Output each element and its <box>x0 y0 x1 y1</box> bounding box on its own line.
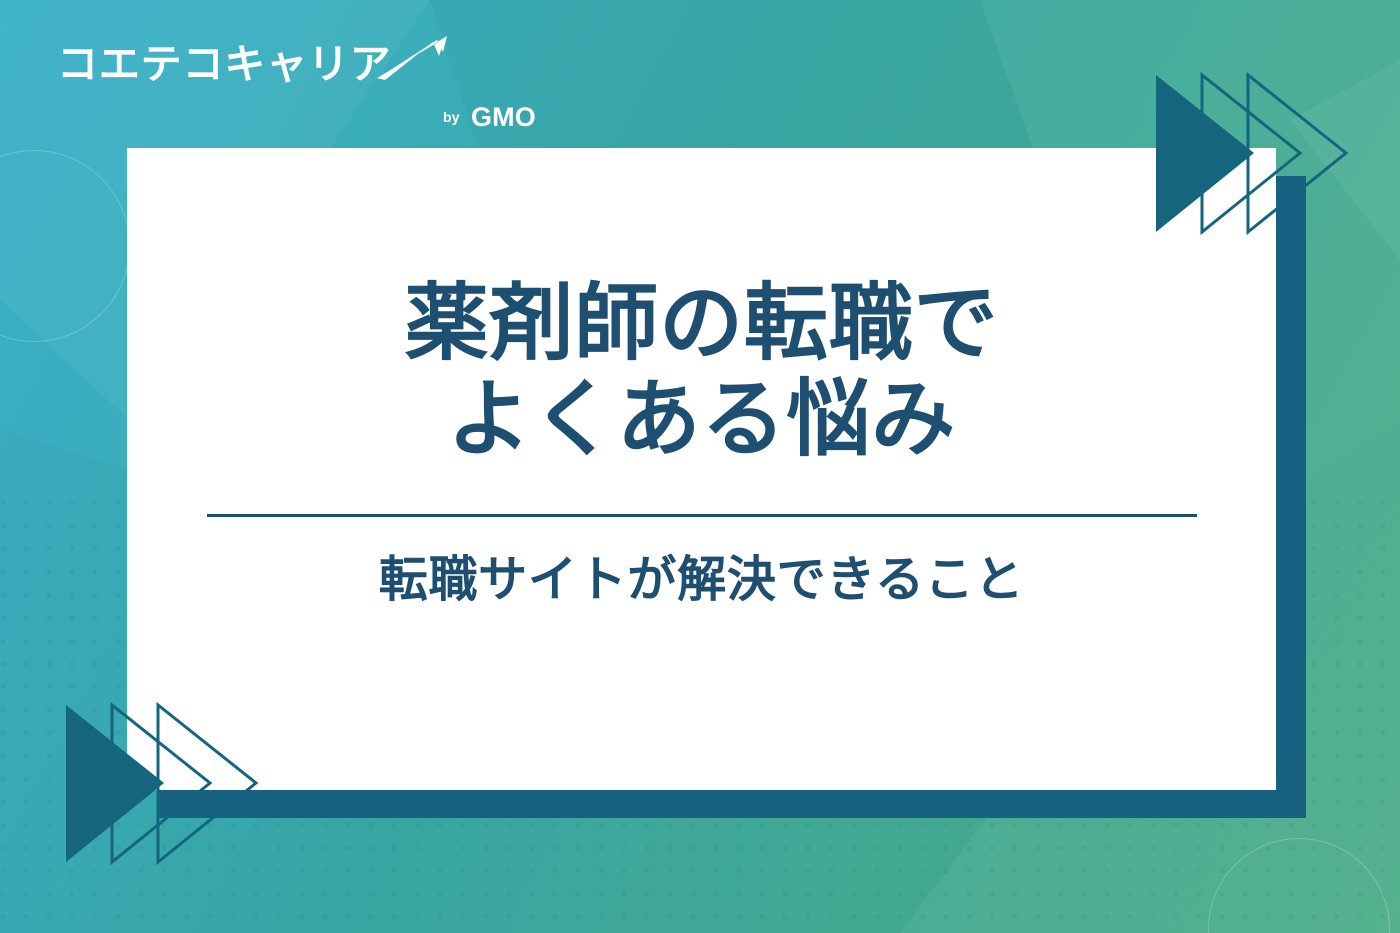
logo-swoosh-arrow-icon <box>373 36 453 82</box>
brand-logo[interactable]: コエテコキャリア by GMO <box>57 44 392 85</box>
page-title: 薬剤師の転職で よくある悩み <box>405 148 999 468</box>
brand-logo-text: コエテコキャリア <box>57 44 392 85</box>
banner-root: 薬剤師の転職で よくある悩み 転職サイトが解決できること コエテコキャリア by… <box>0 0 1400 933</box>
circle-outline-left <box>0 150 130 342</box>
circle-outline-bottom-right <box>1208 838 1390 933</box>
brand-logo-gmo: GMO <box>471 102 536 133</box>
page-subtitle: 転職サイトが解決できること <box>379 517 1025 610</box>
brand-logo-by-label: by <box>443 109 460 125</box>
page-title-line-2: よくある悩み <box>405 372 999 468</box>
page-title-line-1: 薬剤師の転職で <box>405 276 999 372</box>
content-card: 薬剤師の転職で よくある悩み 転職サイトが解決できること <box>127 148 1276 790</box>
